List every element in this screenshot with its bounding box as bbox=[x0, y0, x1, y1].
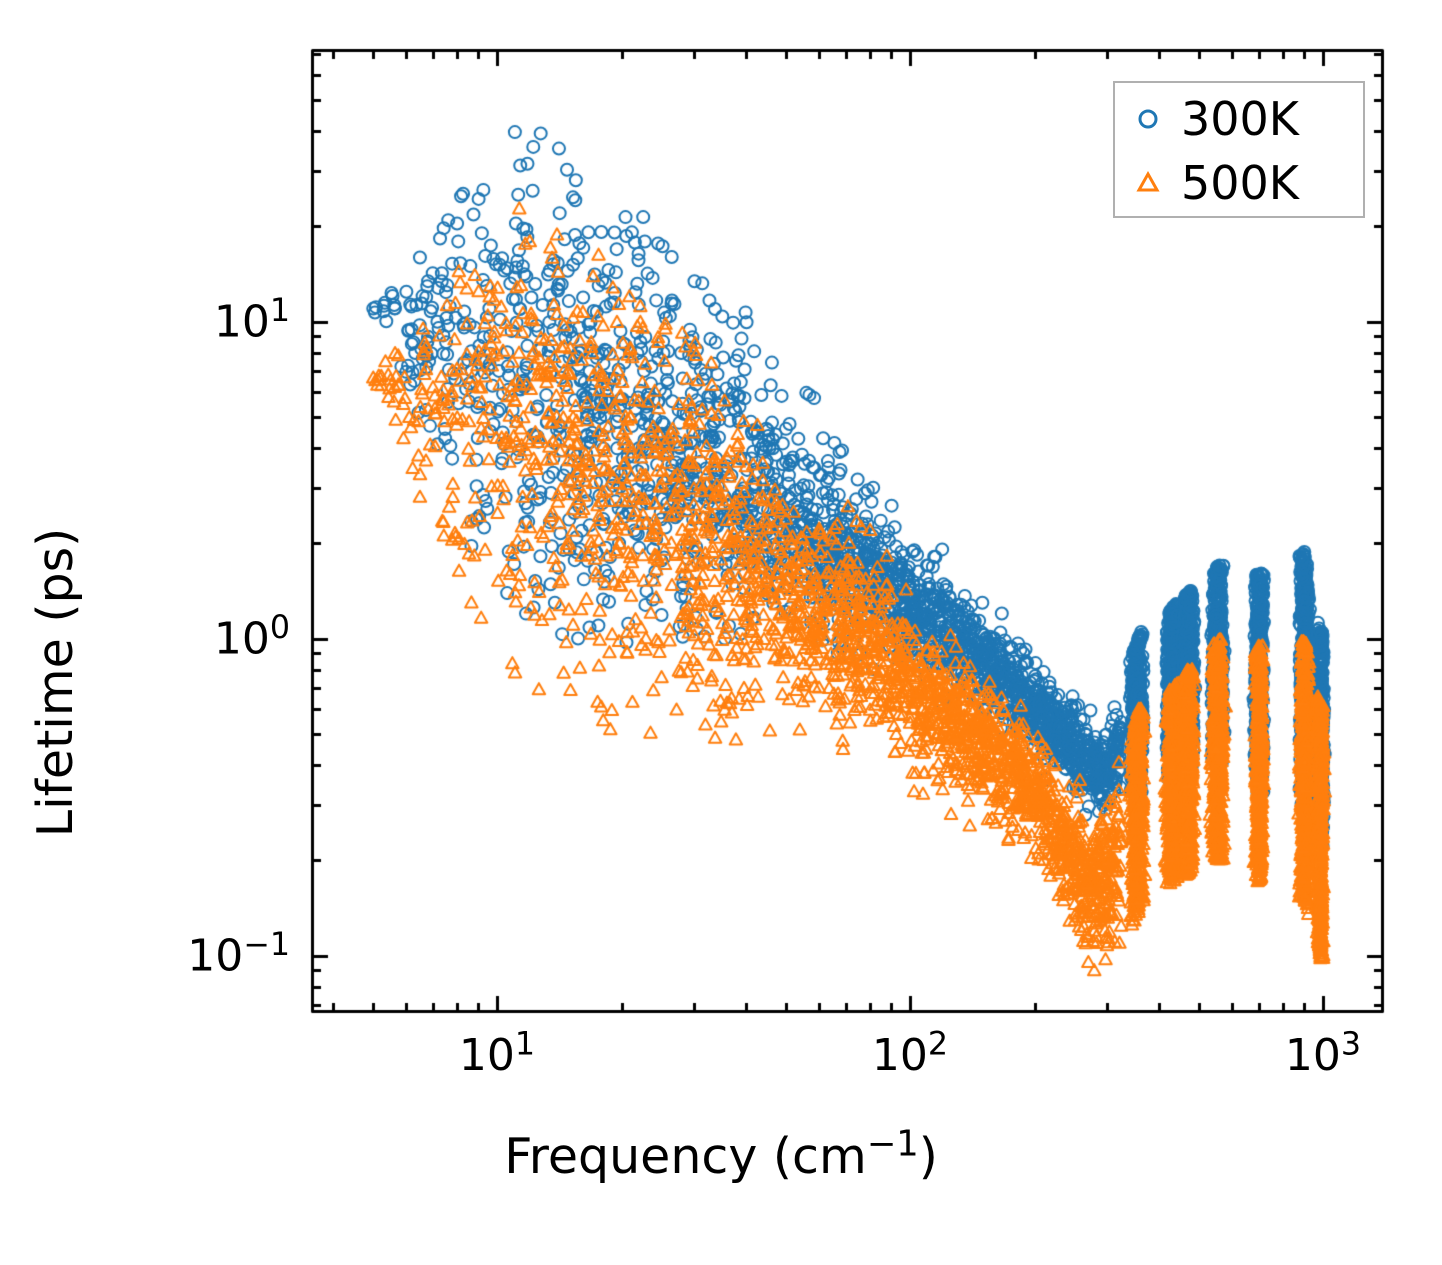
y-tick-label-1: 100 bbox=[214, 614, 290, 665]
x-tick-label-1: 101 bbox=[459, 1030, 535, 1081]
x-axis-label-exponent: −1 bbox=[867, 1124, 919, 1165]
legend-label-500k: 500K bbox=[1181, 160, 1299, 206]
x-axis-label: Frequency (cm−1) bbox=[0, 1128, 1442, 1185]
y-tick-label-10: 101 bbox=[214, 297, 290, 348]
legend[interactable]: 300K 500K bbox=[1113, 81, 1365, 218]
legend-label-300k: 300K bbox=[1181, 96, 1299, 142]
legend-entry-500k[interactable]: 500K bbox=[1115, 153, 1363, 213]
triangle-open-icon bbox=[1115, 169, 1181, 197]
x-tick-label-2: 102 bbox=[872, 1030, 948, 1081]
x-axis-label-suffix: ) bbox=[919, 1128, 938, 1185]
y-tick-label-0-1: 10−1 bbox=[187, 931, 290, 982]
circle-open-icon bbox=[1115, 105, 1181, 133]
x-axis-label-main: Frequency (cm bbox=[504, 1128, 867, 1185]
legend-entry-300k[interactable]: 300K bbox=[1115, 89, 1363, 149]
x-tick-label-3: 103 bbox=[1285, 1030, 1361, 1081]
figure-root: 101 102 103 101 100 10−1 Frequency (cm−1… bbox=[0, 0, 1442, 1265]
